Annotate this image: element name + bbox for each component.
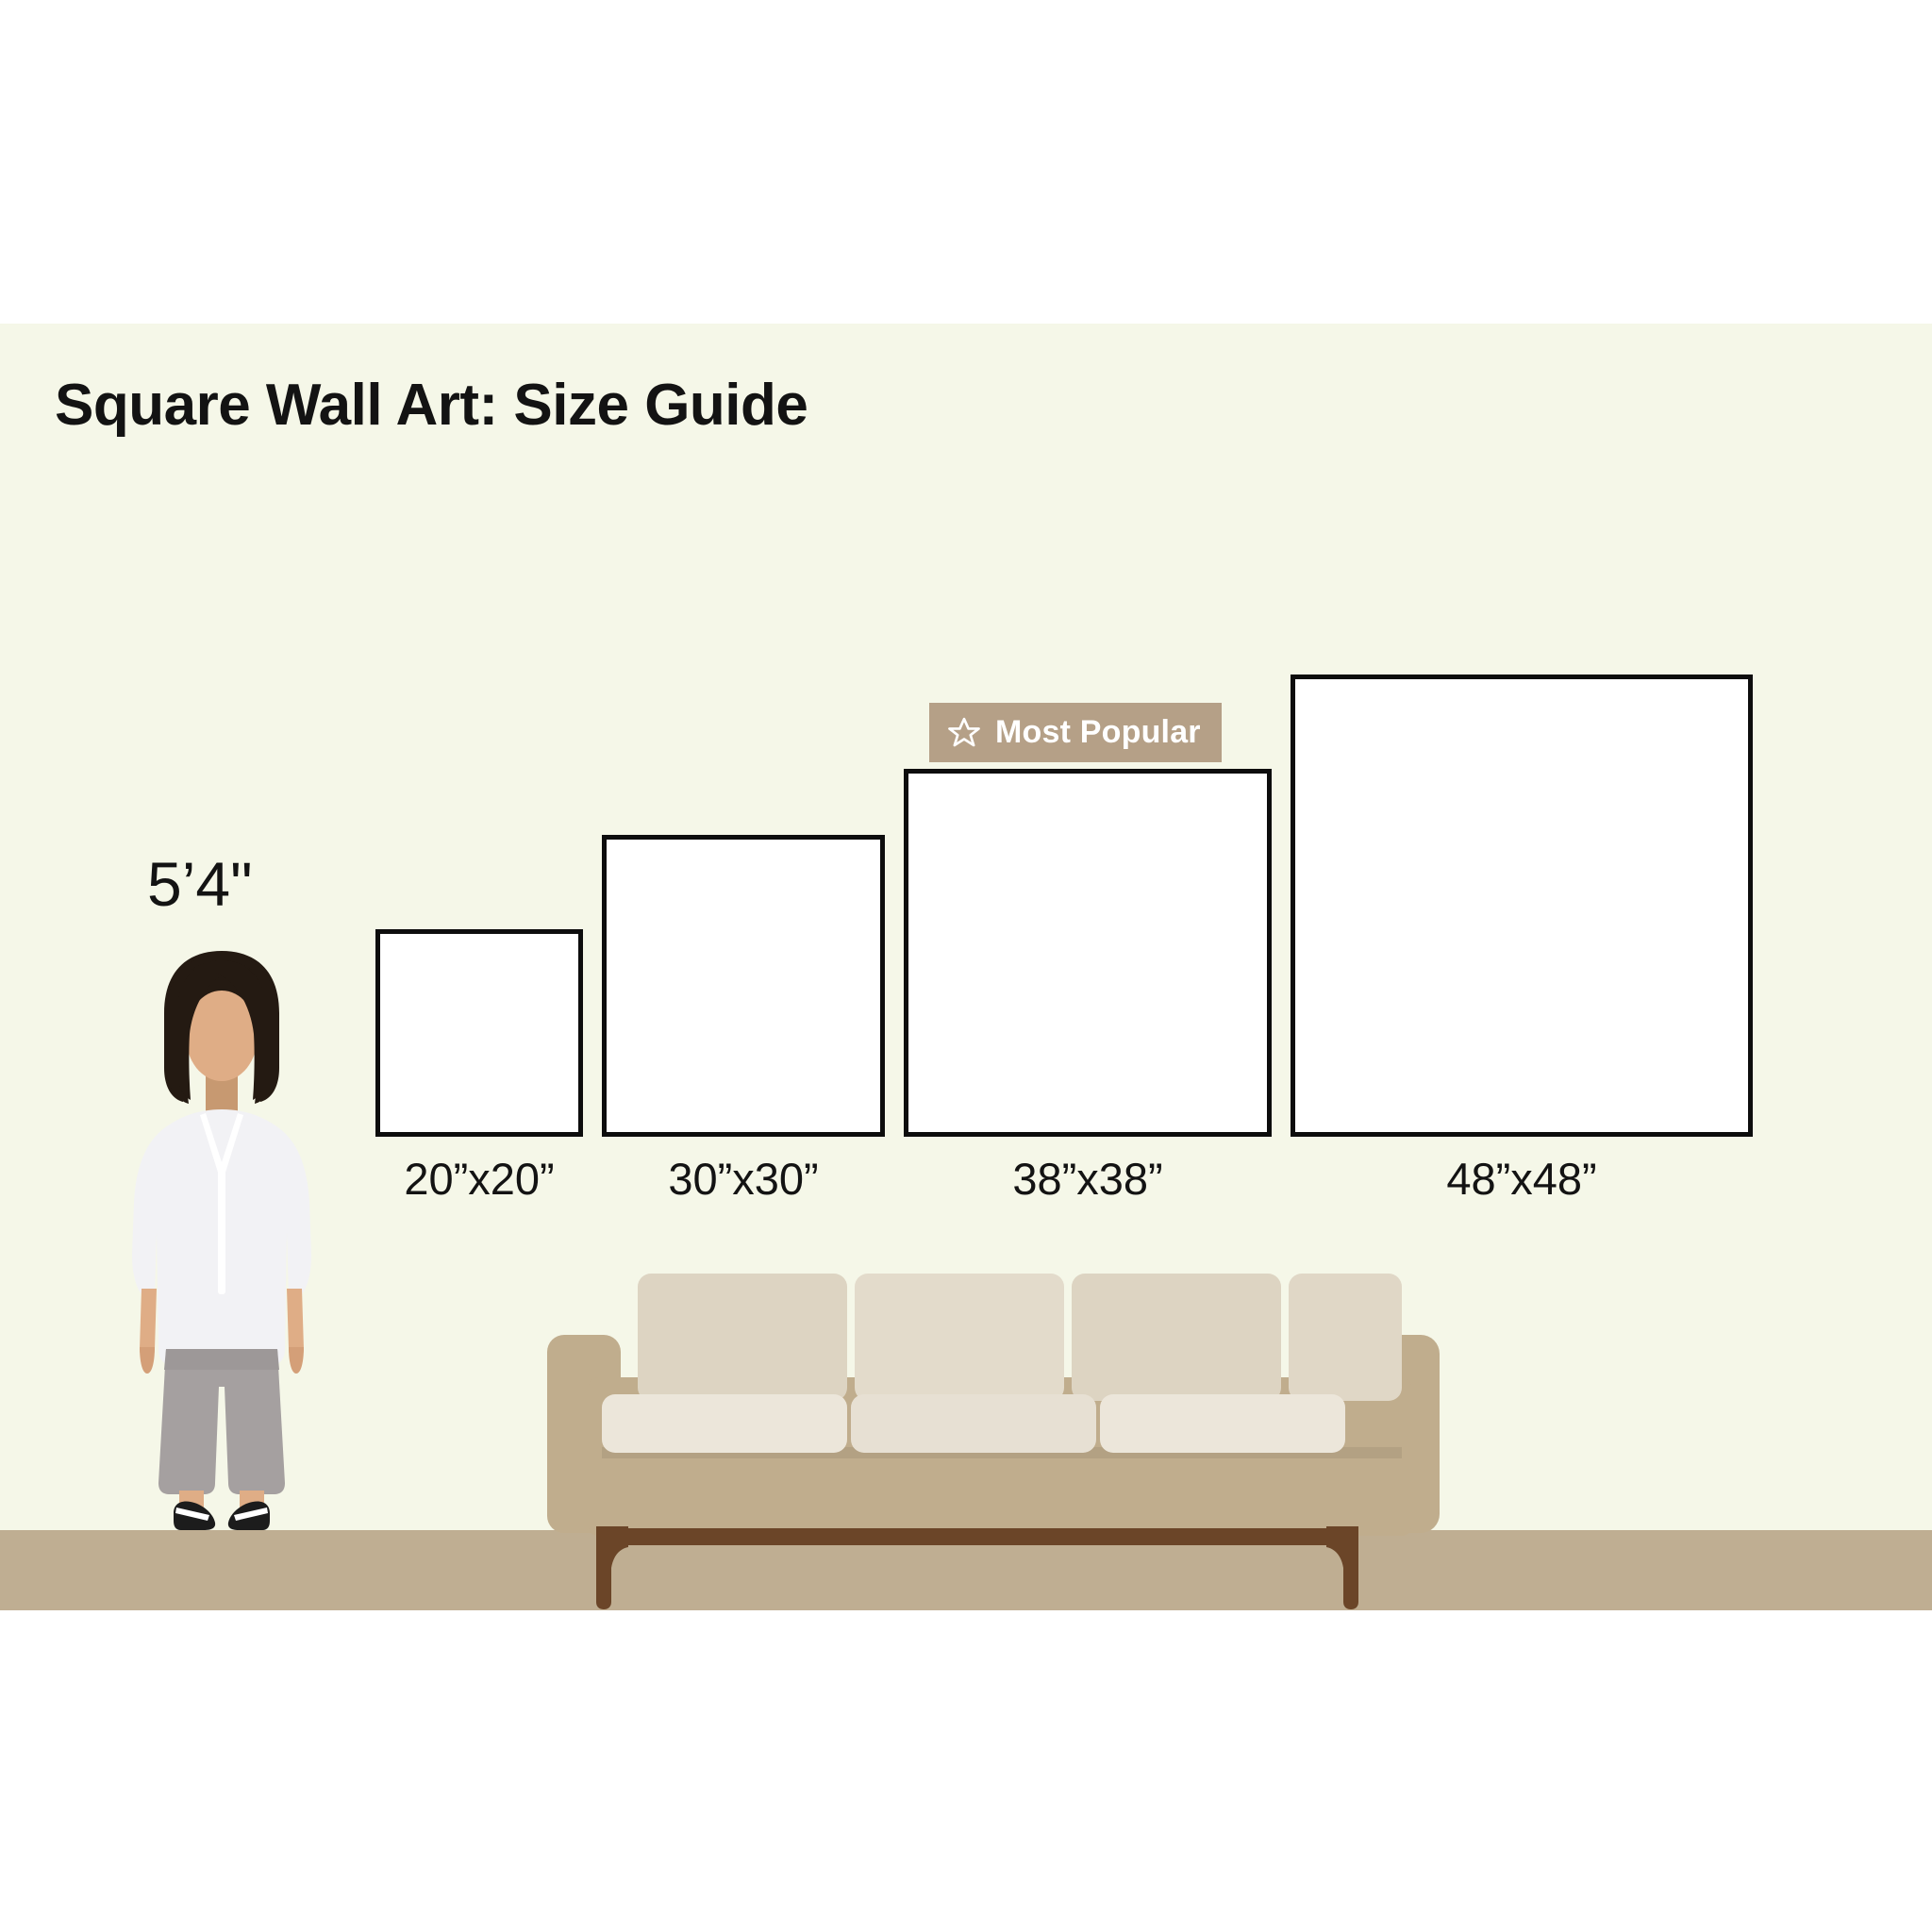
art-frame-30[interactable] [602, 835, 885, 1137]
sofa-back-cushion-4 [1289, 1274, 1402, 1401]
left-hand-shape [140, 1347, 155, 1374]
star-outline-icon [946, 715, 982, 751]
most-popular-badge[interactable]: Most Popular [929, 703, 1222, 762]
trousers-waist-shape [164, 1349, 279, 1370]
sofa-seat-cushion-1 [602, 1394, 847, 1453]
blouse-placket-shape [218, 1162, 225, 1294]
sofa-illustration [547, 1245, 1500, 1623]
sofa-leg-left [596, 1526, 628, 1609]
art-frame-20[interactable] [375, 929, 583, 1137]
sofa-seat-cushion-2 [851, 1394, 1096, 1453]
person-figure [123, 943, 321, 1547]
most-popular-badge-label: Most Popular [995, 714, 1201, 751]
art-frame-30-label: 30”x30” [602, 1153, 885, 1205]
sofa-back-cushion-3 [1072, 1274, 1281, 1401]
size-guide-infographic: Square Wall Art: Size Guide 5’4" [0, 0, 1932, 1932]
sofa-back-cushion-2 [855, 1274, 1064, 1401]
sofa-back-cushion-1 [638, 1274, 847, 1401]
sofa-seat-cushion-3 [1100, 1394, 1345, 1453]
sofa-leg-right [1326, 1526, 1358, 1609]
sofa-rail [596, 1528, 1358, 1545]
art-frame-38-label: 38”x38” [904, 1153, 1272, 1205]
art-frame-48[interactable] [1291, 675, 1753, 1137]
person-height-label: 5’4" [147, 848, 253, 920]
art-frame-48-label: 48”x48” [1291, 1153, 1753, 1205]
right-hand-shape [289, 1347, 304, 1374]
page-title: Square Wall Art: Size Guide [55, 372, 808, 439]
art-frame-38[interactable] [904, 769, 1272, 1137]
trousers-shape [158, 1349, 285, 1494]
art-frame-20-label: 20”x20” [375, 1153, 583, 1205]
